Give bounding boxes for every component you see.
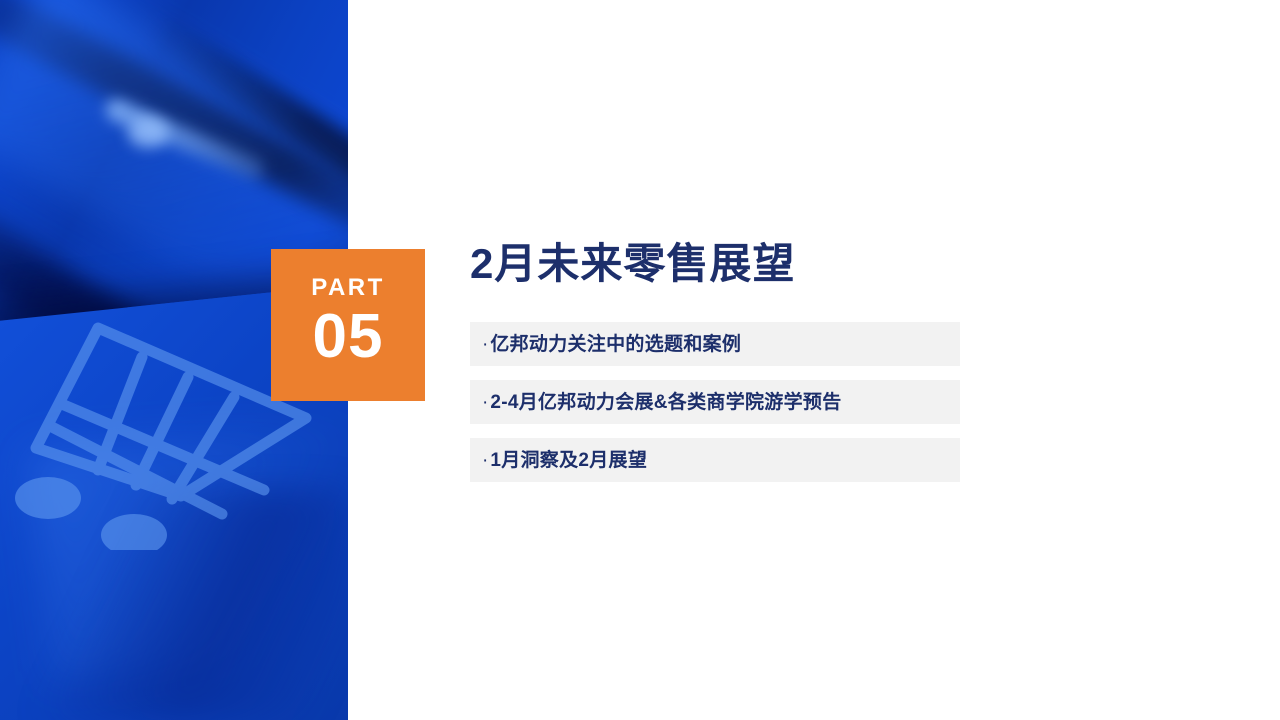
content-area: 2月未来零售展望 · 亿邦动力关注中的选题和案例 · 2-4月亿邦动力会展&各类…	[470, 240, 960, 482]
agenda-list: · 亿邦动力关注中的选题和案例 · 2-4月亿邦动力会展&各类商学院游学预告 ·…	[470, 322, 960, 482]
bullet-marker-icon: ·	[482, 335, 488, 354]
bullet-marker-icon: ·	[482, 451, 488, 470]
part-number: 05	[313, 306, 384, 368]
slide: PART 05 2月未来零售展望 · 亿邦动力关注中的选题和案例 · 2-4月亿…	[0, 0, 1280, 720]
bullet-marker-icon: ·	[482, 393, 488, 412]
list-item-label: 1月洞察及2月展望	[490, 451, 647, 470]
list-item[interactable]: · 1月洞察及2月展望	[470, 438, 960, 482]
key-legend-highlight-dot	[128, 118, 168, 148]
part-label: PART	[311, 276, 385, 300]
list-item-label: 亿邦动力关注中的选题和案例	[490, 335, 741, 354]
list-item[interactable]: · 亿邦动力关注中的选题和案例	[470, 322, 960, 366]
page-title: 2月未来零售展望	[470, 240, 960, 288]
list-item[interactable]: · 2-4月亿邦动力会展&各类商学院游学预告	[470, 380, 960, 424]
part-badge: PART 05	[271, 249, 425, 401]
list-item-label: 2-4月亿邦动力会展&各类商学院游学预告	[490, 393, 841, 412]
